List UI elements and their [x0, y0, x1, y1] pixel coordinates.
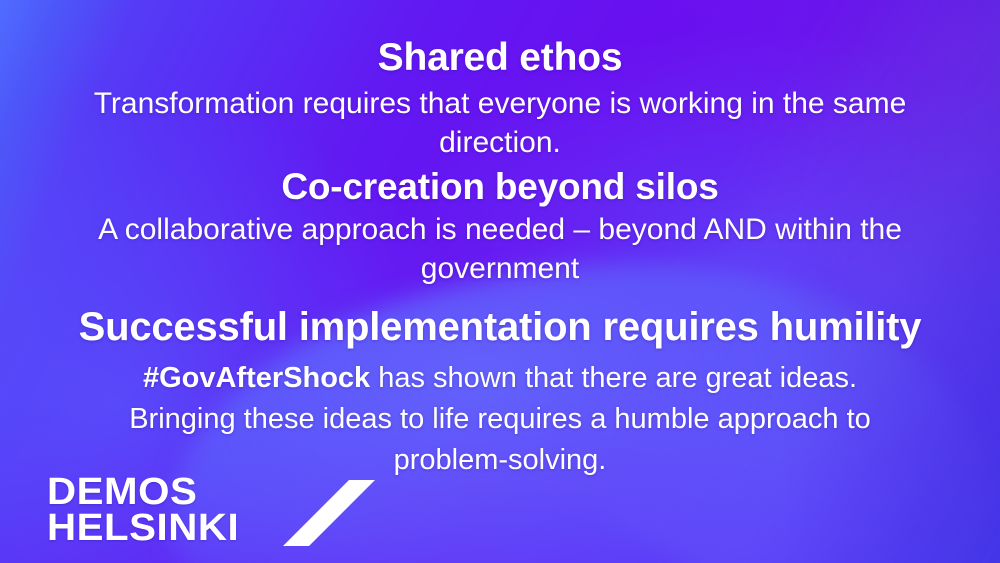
logo-line-helsinki: HELSINKI — [47, 511, 239, 546]
section-2-body: A collaborative approach is needed – bey… — [0, 210, 1000, 288]
section-1-body: Transformation requires that everyone is… — [0, 84, 1000, 162]
logo-line-demos: DEMOS — [47, 475, 239, 510]
hashtag-govaftershock: #GovAfterShock — [143, 362, 370, 394]
presentation-slide: Shared ethos Transformation requires tha… — [0, 0, 1000, 563]
slash-mark-icon — [283, 480, 375, 546]
demos-helsinki-logo: DEMOS HELSINKI — [47, 475, 228, 546]
section-3-body: #GovAfterShock has shown that there are … — [0, 358, 1000, 482]
section-3-heading: Successful implementation requires humil… — [0, 305, 1000, 350]
section-1-heading: Shared ethos — [0, 36, 1000, 80]
section-2-heading: Co-creation beyond silos — [0, 166, 1000, 207]
